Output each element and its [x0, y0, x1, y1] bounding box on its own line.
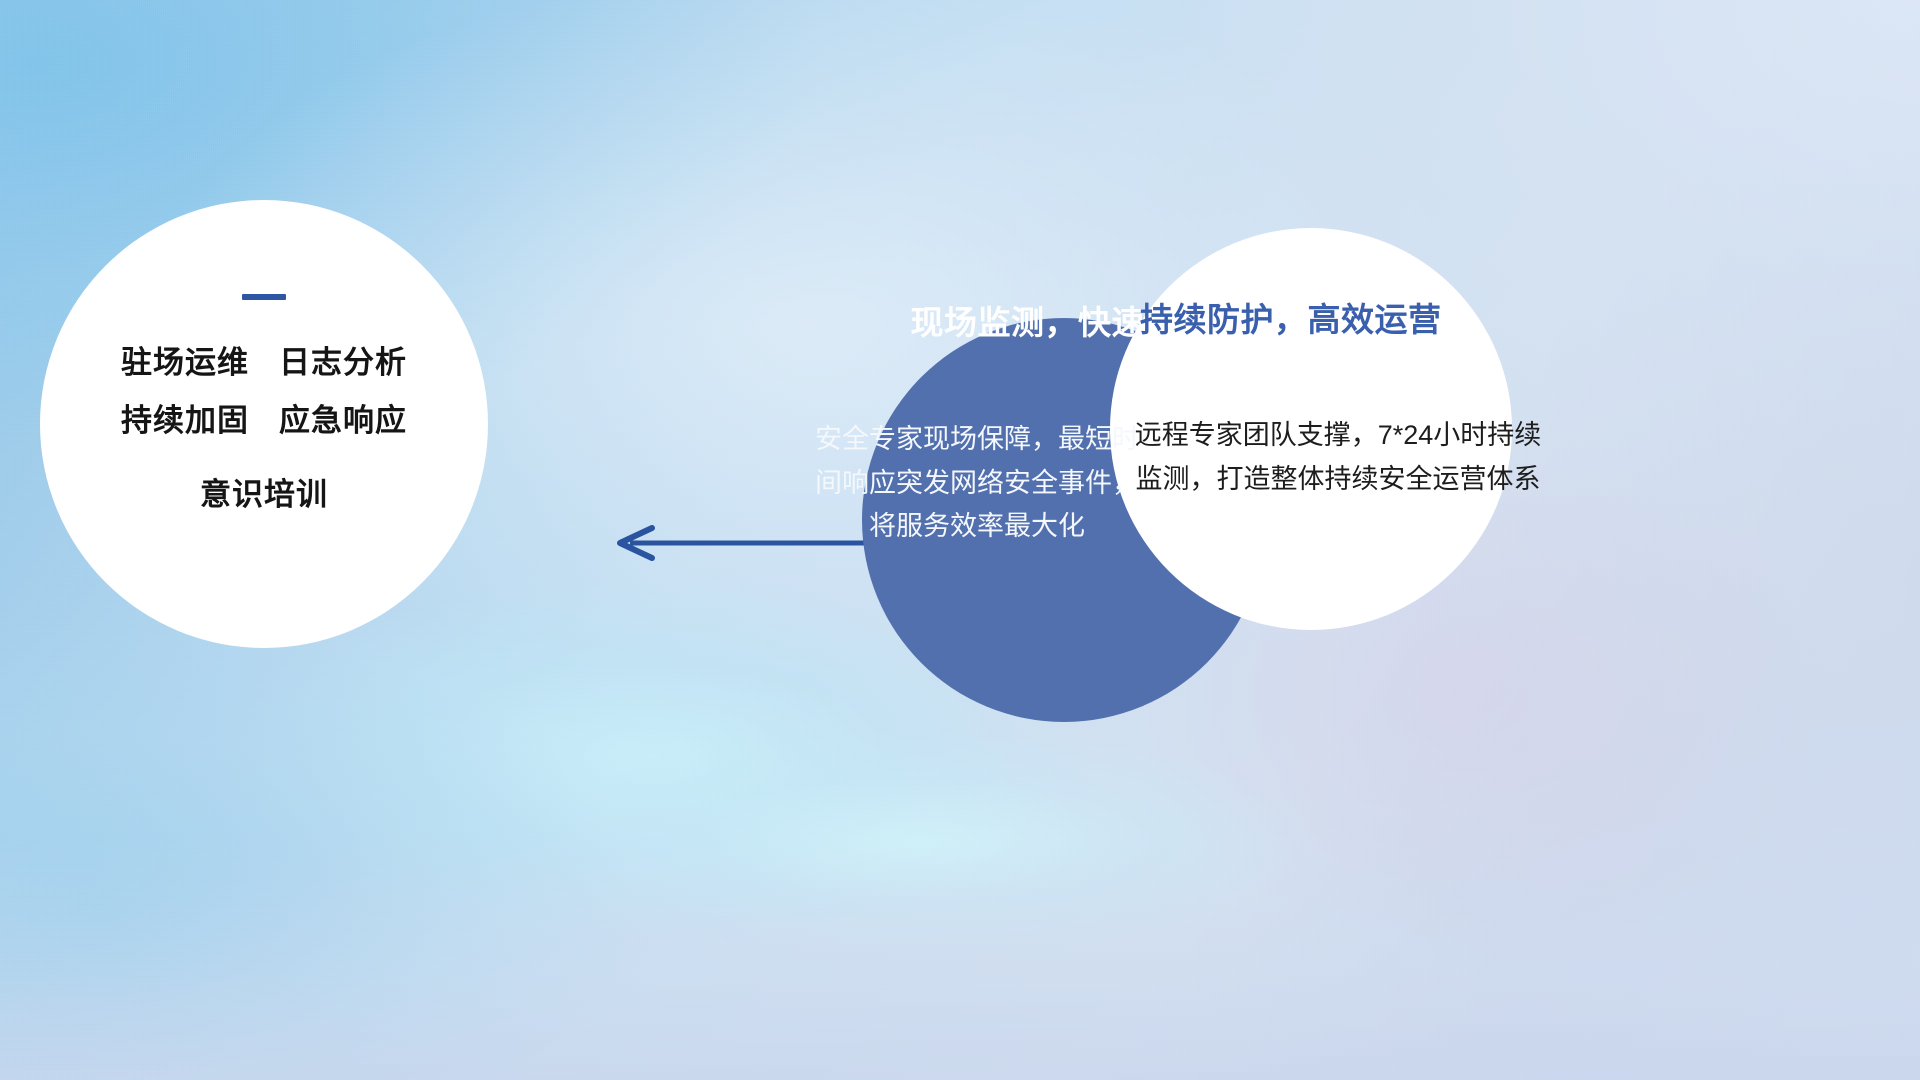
onsite-monitoring-body: 安全专家现场保障，最短时间响应突发网络安全事件，将服务效率最大化 — [812, 418, 1142, 549]
capabilities-content: 驻场运维 日志分析 持续加固 应急响应 意识培训 — [40, 200, 488, 648]
capability-tag: 应急响应 — [279, 404, 407, 438]
capability-tag: 意识培训 — [200, 478, 328, 512]
capability-tag-row: 驻场运维 日志分析 — [121, 346, 407, 380]
slide-canvas: 驻场运维 日志分析 持续加固 应急响应 意识培训 现场监测，快速响应 安全专家现… — [0, 0, 1920, 1080]
continuous-protection-content: 持续防护，高效运营 远程专家团队支撑，7*24小时持续监测，打造整体持续安全运营… — [1110, 228, 1512, 630]
capability-tag: 日志分析 — [279, 346, 407, 380]
capability-tag-row: 意识培训 — [200, 478, 328, 512]
capability-tag: 持续加固 — [121, 404, 249, 438]
continuous-protection-title: 持续防护，高效运营 — [1140, 293, 1580, 341]
continuous-protection-body: 远程专家团队支撑，7*24小时持续监测，打造整体持续安全运营体系 — [1128, 414, 1548, 501]
capability-tag-row: 持续加固 应急响应 — [121, 404, 407, 438]
divider-dash — [242, 294, 286, 300]
capability-tag-list: 驻场运维 日志分析 持续加固 应急响应 意识培训 — [121, 346, 407, 512]
capability-tag: 驻场运维 — [121, 346, 249, 380]
